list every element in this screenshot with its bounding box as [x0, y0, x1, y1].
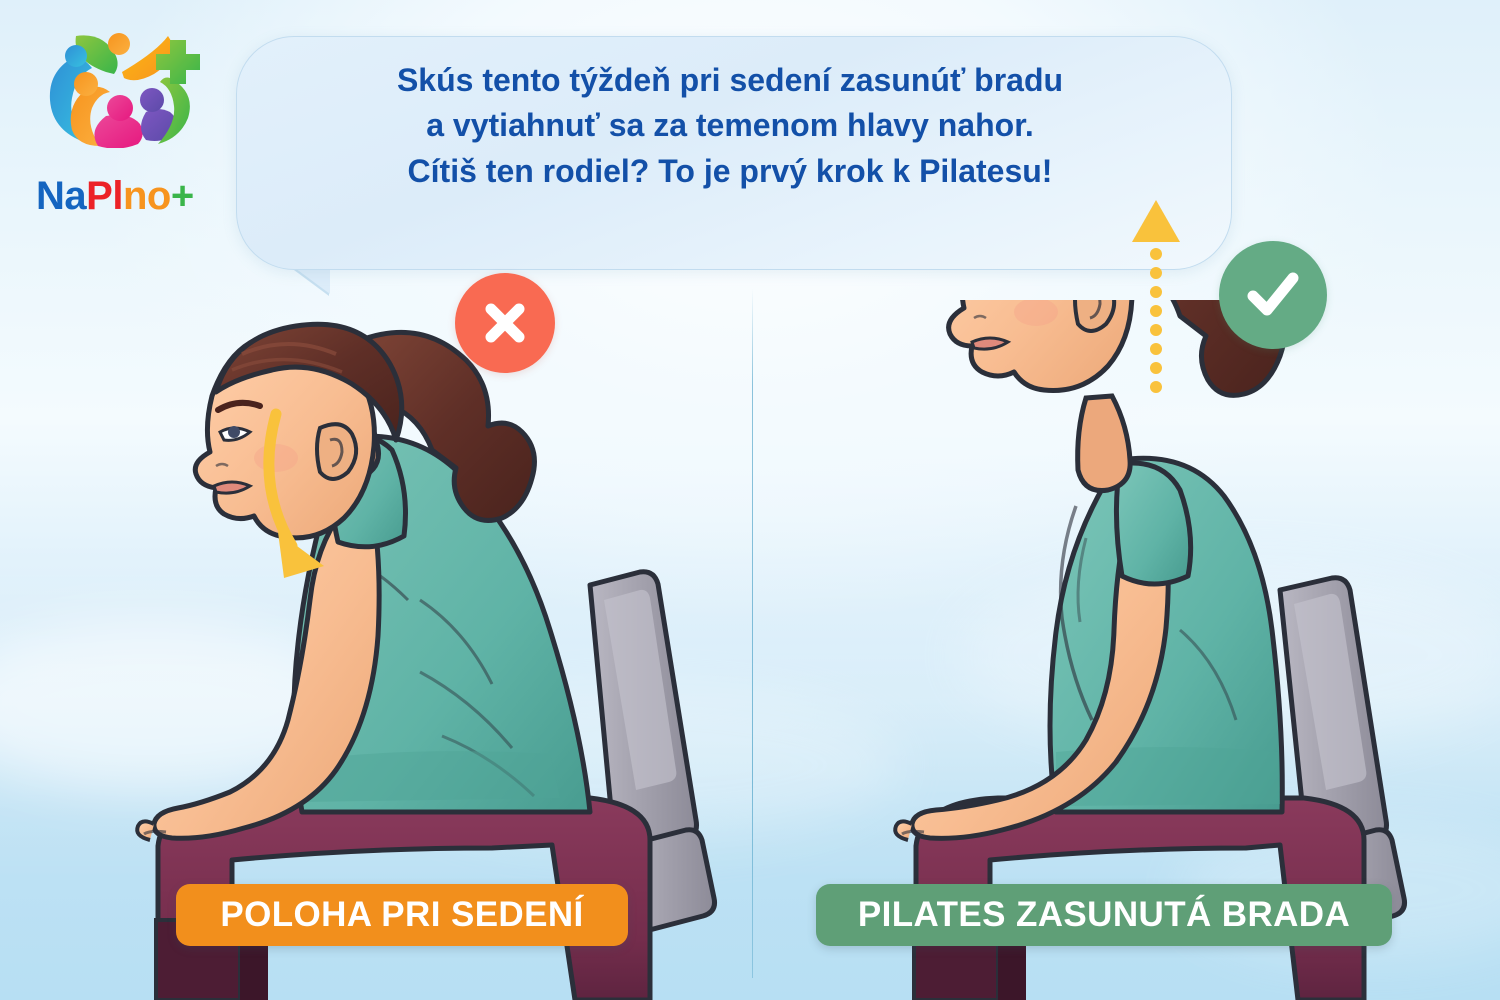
figure-neck — [1078, 396, 1130, 491]
cross-glyph — [473, 291, 537, 355]
bubble-line-2: a vytiahnuť sa za temenom hlavy nahor. — [250, 103, 1210, 148]
label-left-posture: POLOHA PRI SEDENÍ — [176, 884, 628, 946]
label-left-text: POLOHA PRI SEDENÍ — [220, 895, 583, 935]
brand-part-na: Na — [36, 174, 86, 218]
heart-people-plus-logo — [42, 26, 202, 148]
dotted-up-arrow-icon — [1128, 196, 1184, 396]
bubble-line-3: Cítiš ten rodiel? To je prvý krok k Pila… — [250, 149, 1210, 194]
infographic-canvas: Skús tento týždeň pri sedení zasunúť bra… — [0, 0, 1500, 1000]
brand-wordmark: NaPlno+ — [36, 176, 216, 216]
speech-bubble-text: Skús tento týždeň pri sedení zasunúť bra… — [250, 58, 1210, 194]
label-right-text: PILATES ZASUNUTÁ BRADA — [858, 895, 1350, 935]
brand-part-plus: + — [171, 174, 194, 218]
panel-divider — [752, 288, 753, 978]
check-icon — [1219, 241, 1327, 349]
brand-part-no: no — [123, 174, 171, 218]
bubble-line-1: Skús tento týždeň pri sedení zasunúť bra… — [250, 58, 1210, 103]
curved-down-arrow-icon — [262, 400, 382, 590]
label-right-posture: PILATES ZASUNUTÁ BRADA — [816, 884, 1392, 946]
check-glyph — [1238, 260, 1308, 330]
brand-logo[interactable]: NaPlno+ — [34, 26, 214, 206]
brand-part-pl: Pl — [86, 174, 123, 218]
cross-icon — [455, 273, 555, 373]
